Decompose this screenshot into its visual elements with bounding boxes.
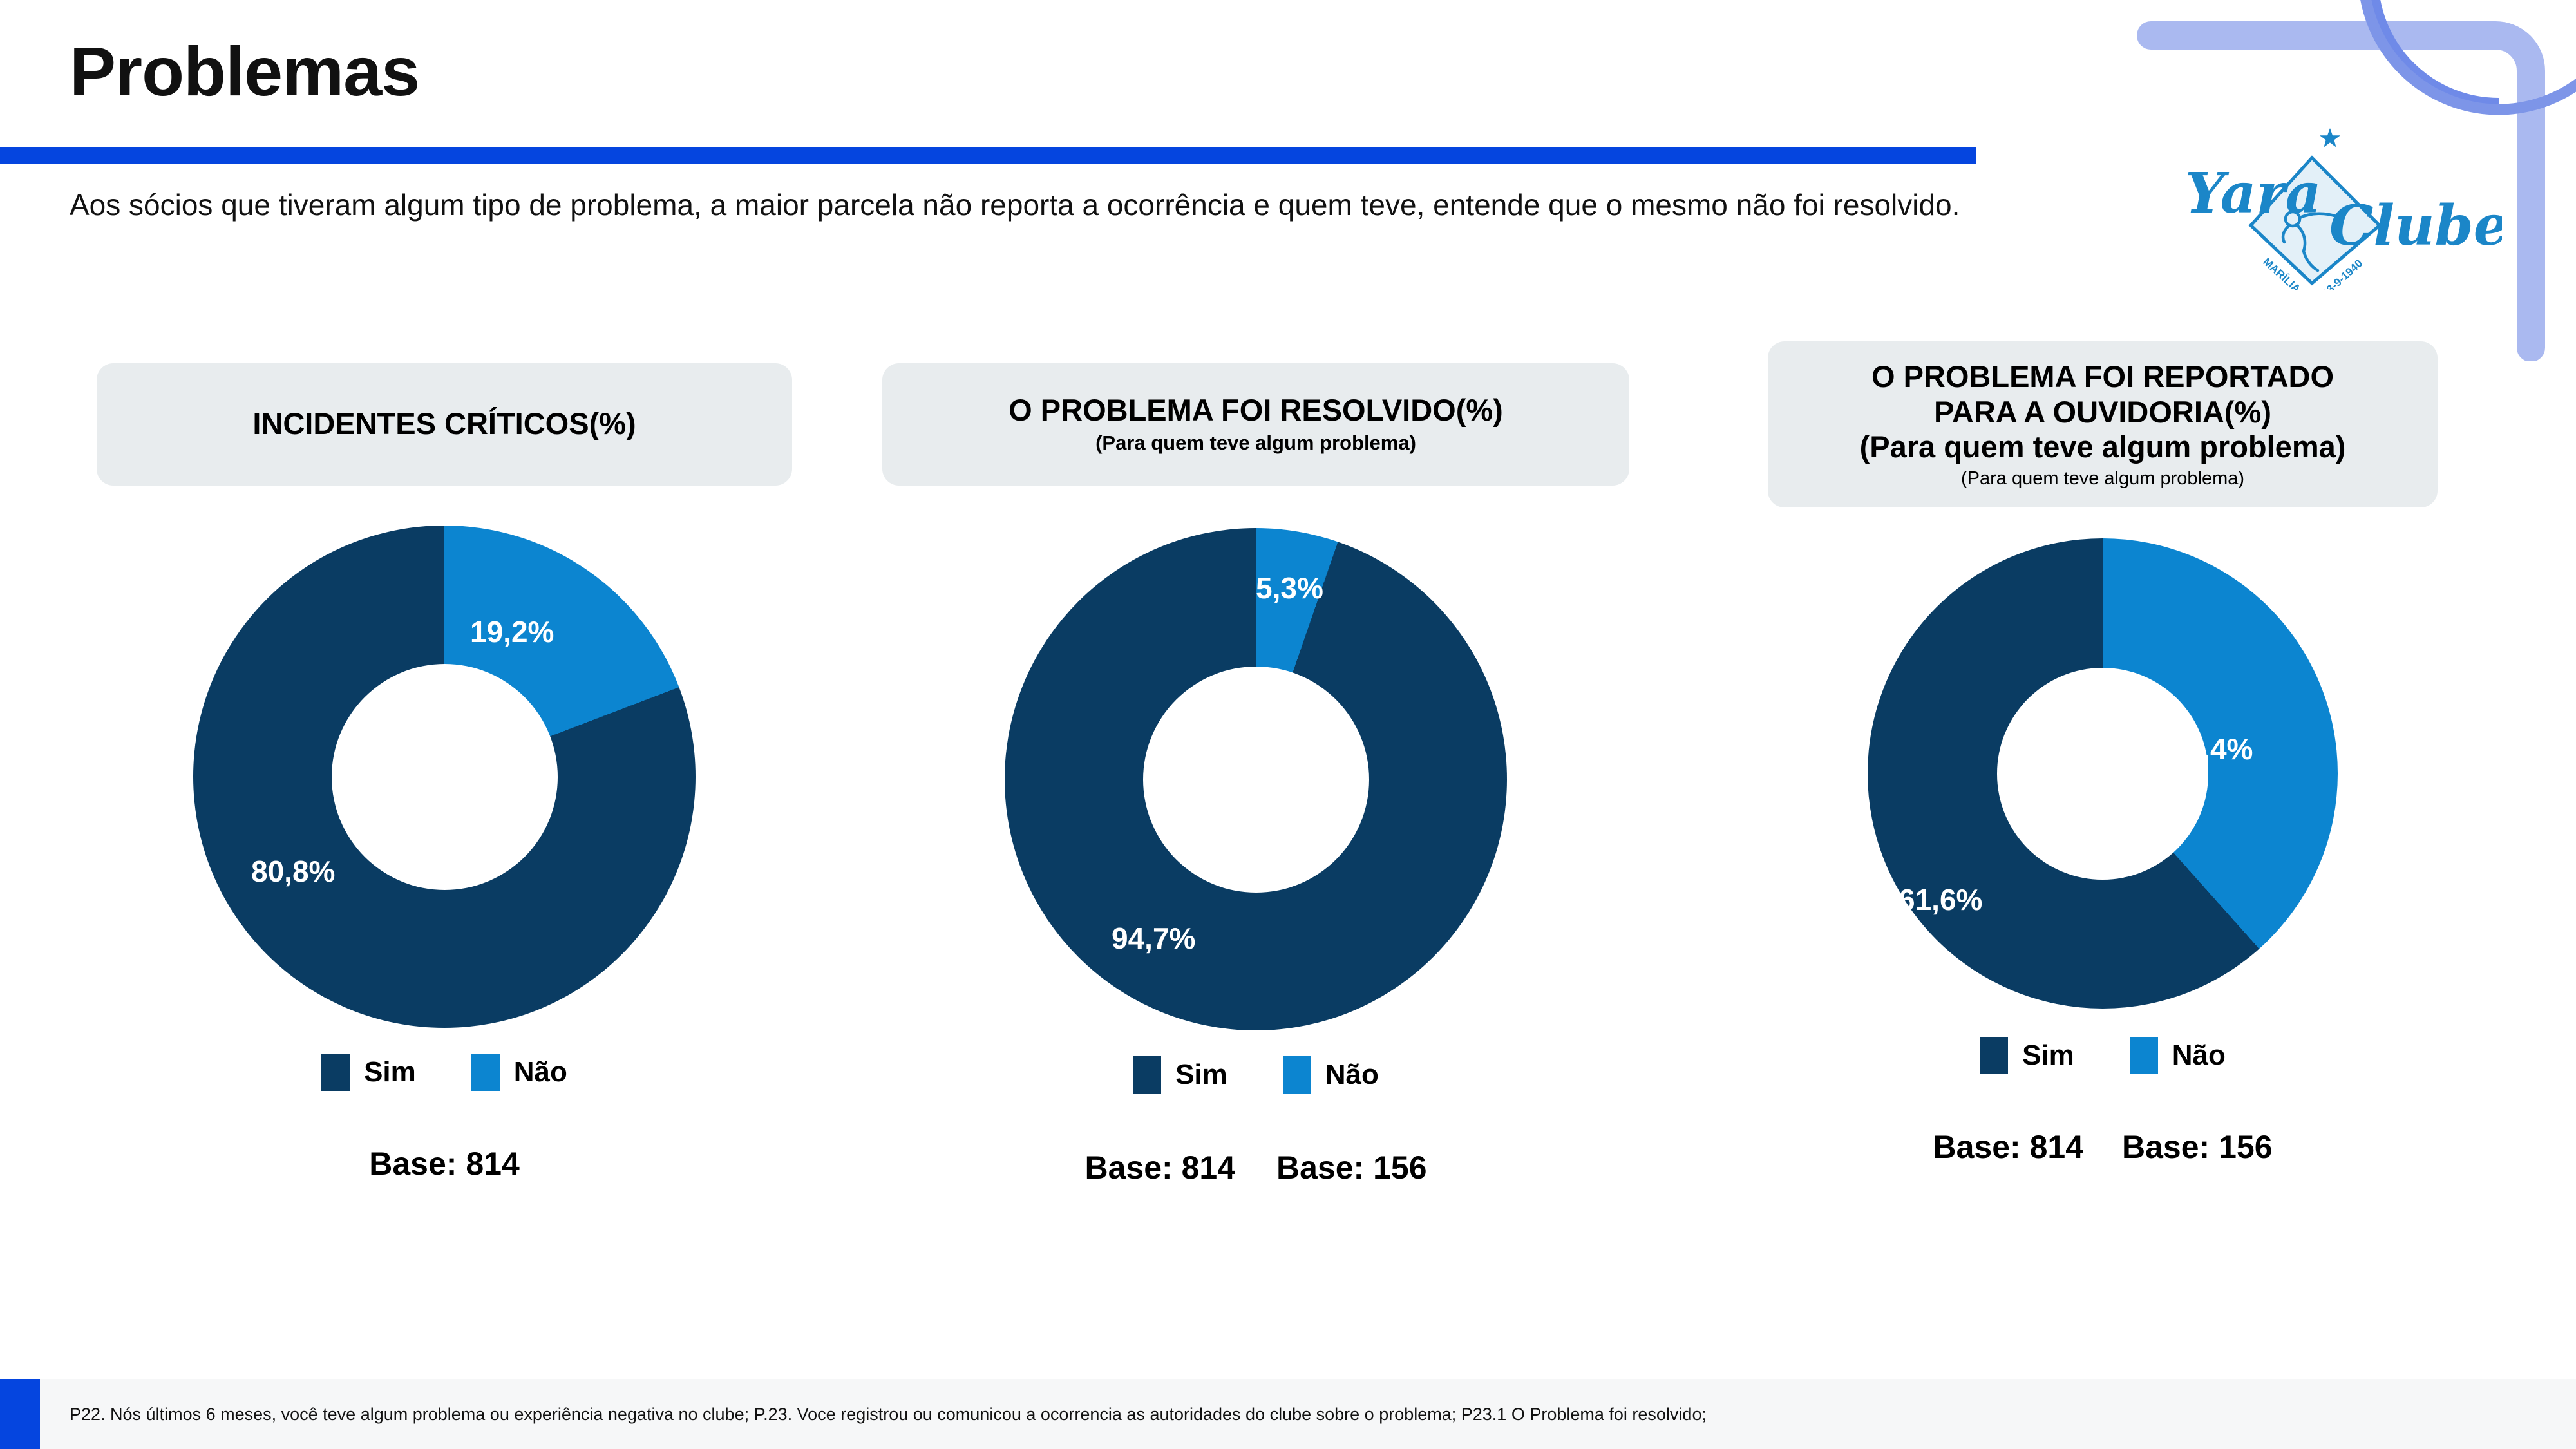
legend-label-sim-0: Sim <box>364 1056 416 1088</box>
donut-chart-0: 19,2% 80,8% <box>193 526 696 1028</box>
legend-item-sim-0[interactable]: Sim <box>321 1054 416 1091</box>
legend-item-nao-2[interactable]: Não <box>2130 1037 2226 1074</box>
legend-label-nao-1: Não <box>1325 1059 1379 1091</box>
legend-item-nao-1[interactable]: Não <box>1283 1056 1379 1094</box>
chart-subtitle-text-2: (Para quem teve algum problema) <box>1785 430 2421 465</box>
chart-title-text-0: INCIDENTES CRÍTICOS(%) <box>252 406 636 442</box>
legend-swatch-nao-2 <box>2130 1037 2158 1074</box>
page-subtitle: Aos sócios que tiveram algum tipo de pro… <box>70 185 2053 225</box>
base-row-2: Base: 814 Base: 156 <box>1761 1128 2444 1166</box>
donut-chart-1: 5,3% 94,7% <box>1005 528 1507 1030</box>
legend-item-sim-1[interactable]: Sim <box>1133 1056 1227 1094</box>
chart-subtitle2-text-2: (Para quem teve algum problema) <box>1785 468 2421 490</box>
chart-card-problema-resolvido: O PROBLEMA FOI RESOLVIDO(%) (Para quem t… <box>869 341 1642 1186</box>
legend-swatch-nao-0 <box>471 1054 500 1091</box>
chart-subtitle-text-1: (Para quem teve algum problema) <box>1095 431 1416 455</box>
donut-slice-label-sim-0: 80,8% <box>251 854 335 889</box>
legend-0: Sim Não <box>64 1054 824 1091</box>
donut-slice-label-nao-0: 19,2% <box>470 614 554 649</box>
donut-ring-0 <box>193 526 696 1028</box>
donut-slice-label-nao-2: 38,4% <box>2169 732 2253 766</box>
donut-ring-2 <box>1868 538 2338 1009</box>
chart-title-text-2-line2: PARA A OUVIDORIA(%) <box>1785 395 2421 430</box>
base-label-1-0: Base: 814 <box>1085 1149 1236 1186</box>
donut-chart-2: 38,4% 61,6% <box>1868 538 2338 1009</box>
legend-swatch-nao-1 <box>1283 1056 1311 1094</box>
legend-label-sim-1: Sim <box>1175 1059 1227 1091</box>
donut-slice-label-nao-1: 5,3% <box>1256 571 1323 605</box>
legend-item-nao-0[interactable]: Não <box>471 1054 567 1091</box>
legend-swatch-sim-0 <box>321 1054 350 1091</box>
chart-title-chip-0: INCIDENTES CRÍTICOS(%) <box>97 363 792 486</box>
chart-title-chip-1: O PROBLEMA FOI RESOLVIDO(%) (Para quem t… <box>882 363 1629 486</box>
footer-accent-block <box>0 1379 40 1449</box>
svg-text:Yara: Yara <box>2185 161 2321 226</box>
legend-item-sim-2[interactable]: Sim <box>1980 1037 2074 1074</box>
chart-card-incidentes-criticos: INCIDENTES CRÍTICOS(%) 19,2% 80,8% Sim N… <box>64 341 824 1182</box>
base-label-2-0: Base: 814 <box>1933 1128 2084 1166</box>
page-title: Problemas <box>70 31 419 111</box>
donut-slice-label-sim-2: 61,6% <box>1899 882 1982 917</box>
legend-label-nao-2: Não <box>2172 1039 2226 1072</box>
chart-card-problema-reportado-ouvidoria: O PROBLEMA FOI REPORTADO PARA A OUVIDORI… <box>1761 341 2444 1166</box>
footer-note: P22. Nós últimos 6 meses, você teve algu… <box>70 1379 1707 1449</box>
svg-text:Clube: Clube <box>2329 193 2502 258</box>
donut-slice-label-sim-1: 94,7% <box>1112 921 1195 956</box>
legend-label-nao-0: Não <box>514 1056 567 1088</box>
legend-1: Sim Não <box>869 1056 1642 1094</box>
legend-label-sim-2: Sim <box>2022 1039 2074 1072</box>
legend-swatch-sim-2 <box>1980 1037 2008 1074</box>
title-divider-rule <box>0 147 1976 164</box>
legend-swatch-sim-1 <box>1133 1056 1161 1094</box>
base-row-1: Base: 814 Base: 156 <box>869 1149 1642 1186</box>
base-row-0: Base: 814 <box>64 1145 824 1182</box>
yara-clube-logo: Yara Clube MARÍLIA 13-9-1940 <box>2180 122 2502 290</box>
base-label-2-1: Base: 156 <box>2122 1128 2273 1166</box>
chart-title-text-1: O PROBLEMA FOI RESOLVIDO(%) <box>1009 393 1503 428</box>
base-label-1-1: Base: 156 <box>1276 1149 1427 1186</box>
base-label-0-0: Base: 814 <box>369 1145 520 1182</box>
legend-2: Sim Não <box>1761 1037 2444 1074</box>
chart-title-chip-2: O PROBLEMA FOI REPORTADO PARA A OUVIDORI… <box>1768 341 2438 507</box>
chart-title-text-2-line1: O PROBLEMA FOI REPORTADO <box>1785 359 2421 395</box>
